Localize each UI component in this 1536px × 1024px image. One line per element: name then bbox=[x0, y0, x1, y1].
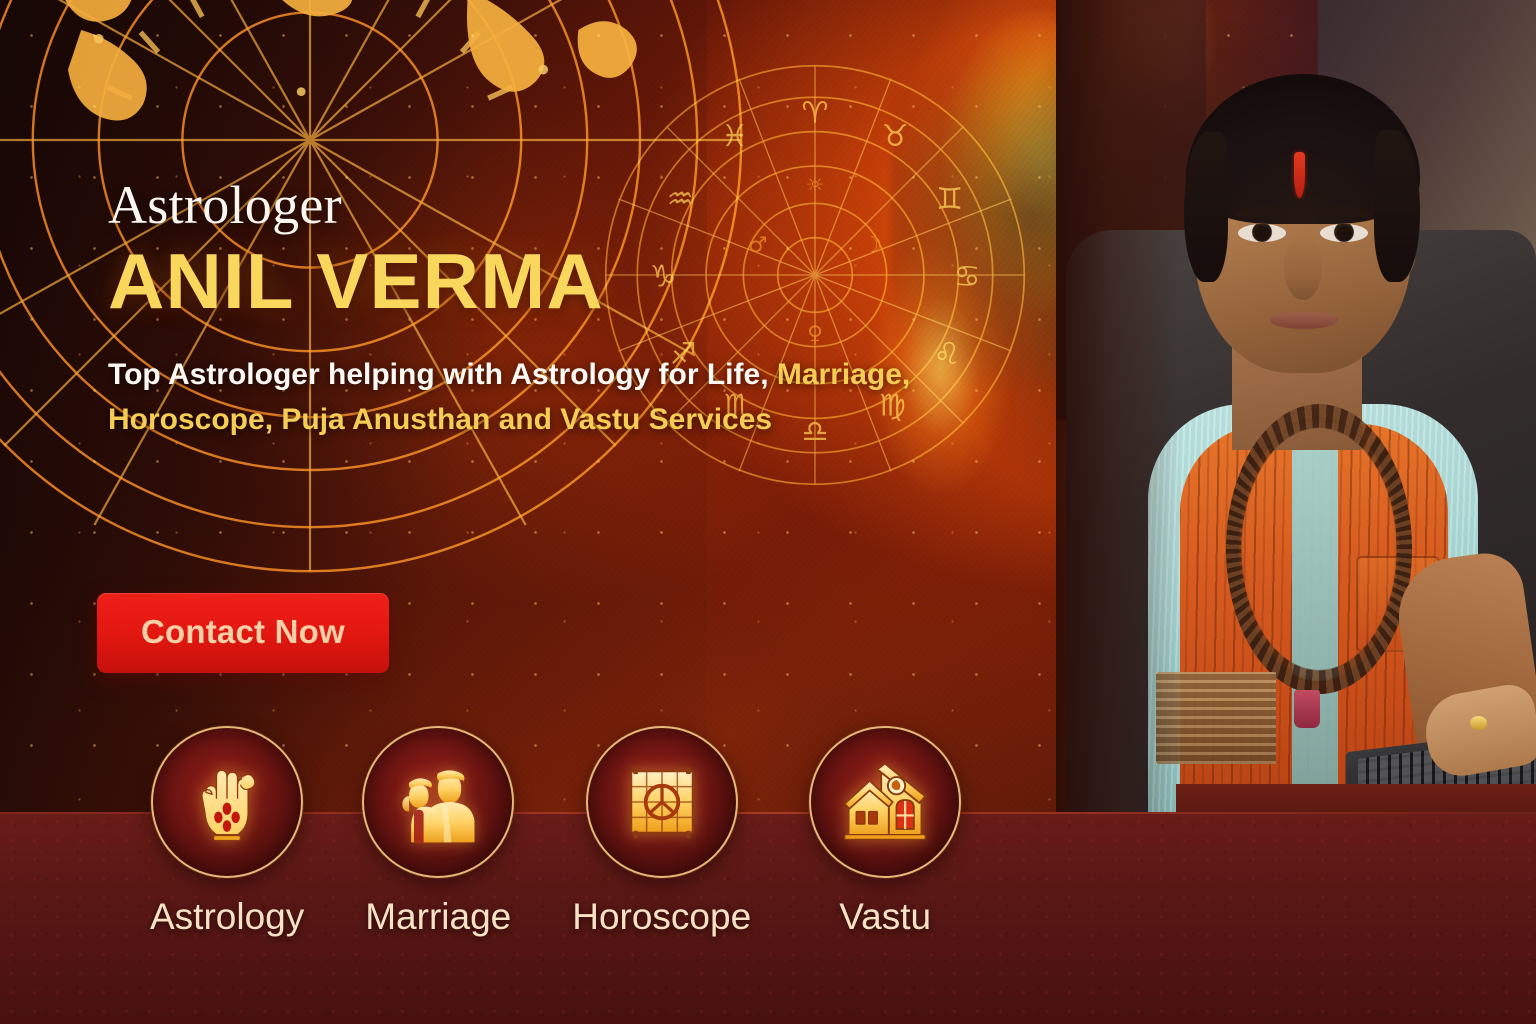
page-title: ANIL VERMA bbox=[108, 238, 1008, 325]
tagline-part-white: Top Astrologer helping with Astrology fo… bbox=[108, 358, 769, 391]
service-item-vastu[interactable]: Vastu bbox=[809, 726, 961, 938]
service-label-marriage: Marriage bbox=[365, 896, 511, 938]
tagline-part-gold-2: Puja Anusthan and Vastu Services bbox=[281, 403, 772, 436]
service-icon-circle-astrology[interactable] bbox=[151, 726, 303, 878]
svg-text:♉: ♉ bbox=[882, 119, 909, 154]
service-label-astrology: Astrology bbox=[150, 896, 304, 938]
wedding-couple-icon bbox=[390, 754, 486, 850]
service-icon-circle-vastu[interactable] bbox=[809, 726, 961, 878]
svg-text:♈: ♈ bbox=[802, 96, 829, 131]
service-item-horoscope[interactable]: Horoscope bbox=[572, 726, 751, 938]
service-icon-circle-horoscope[interactable] bbox=[586, 726, 738, 878]
astrologer-promo-banner: ♈♉ ♊♋ ♌♍ ♎♏ ♐♑ ♒♓ ☼☽ ♀♂ bbox=[0, 0, 1536, 1024]
service-label-vastu: Vastu bbox=[839, 896, 931, 938]
service-item-astrology[interactable]: Astrology bbox=[150, 726, 304, 938]
contact-now-button[interactable]: Contact Now bbox=[97, 593, 389, 673]
hero-tagline: Top Astrologer helping with Astrology fo… bbox=[108, 352, 988, 443]
hero-text-block: Astrologer ANIL VERMA Top Astrologer hel… bbox=[108, 176, 1008, 443]
service-item-marriage[interactable]: Marriage bbox=[362, 726, 514, 938]
horoscope-chart-icon bbox=[614, 754, 710, 850]
services-row: Astrology bbox=[0, 726, 1200, 938]
service-icon-circle-marriage[interactable] bbox=[362, 726, 514, 878]
svg-text:♓: ♓ bbox=[721, 119, 748, 154]
house-icon bbox=[837, 754, 933, 850]
palm-hand-icon bbox=[179, 754, 275, 850]
page-eyebrow: Astrologer bbox=[108, 176, 1008, 234]
service-label-horoscope: Horoscope bbox=[572, 896, 751, 938]
